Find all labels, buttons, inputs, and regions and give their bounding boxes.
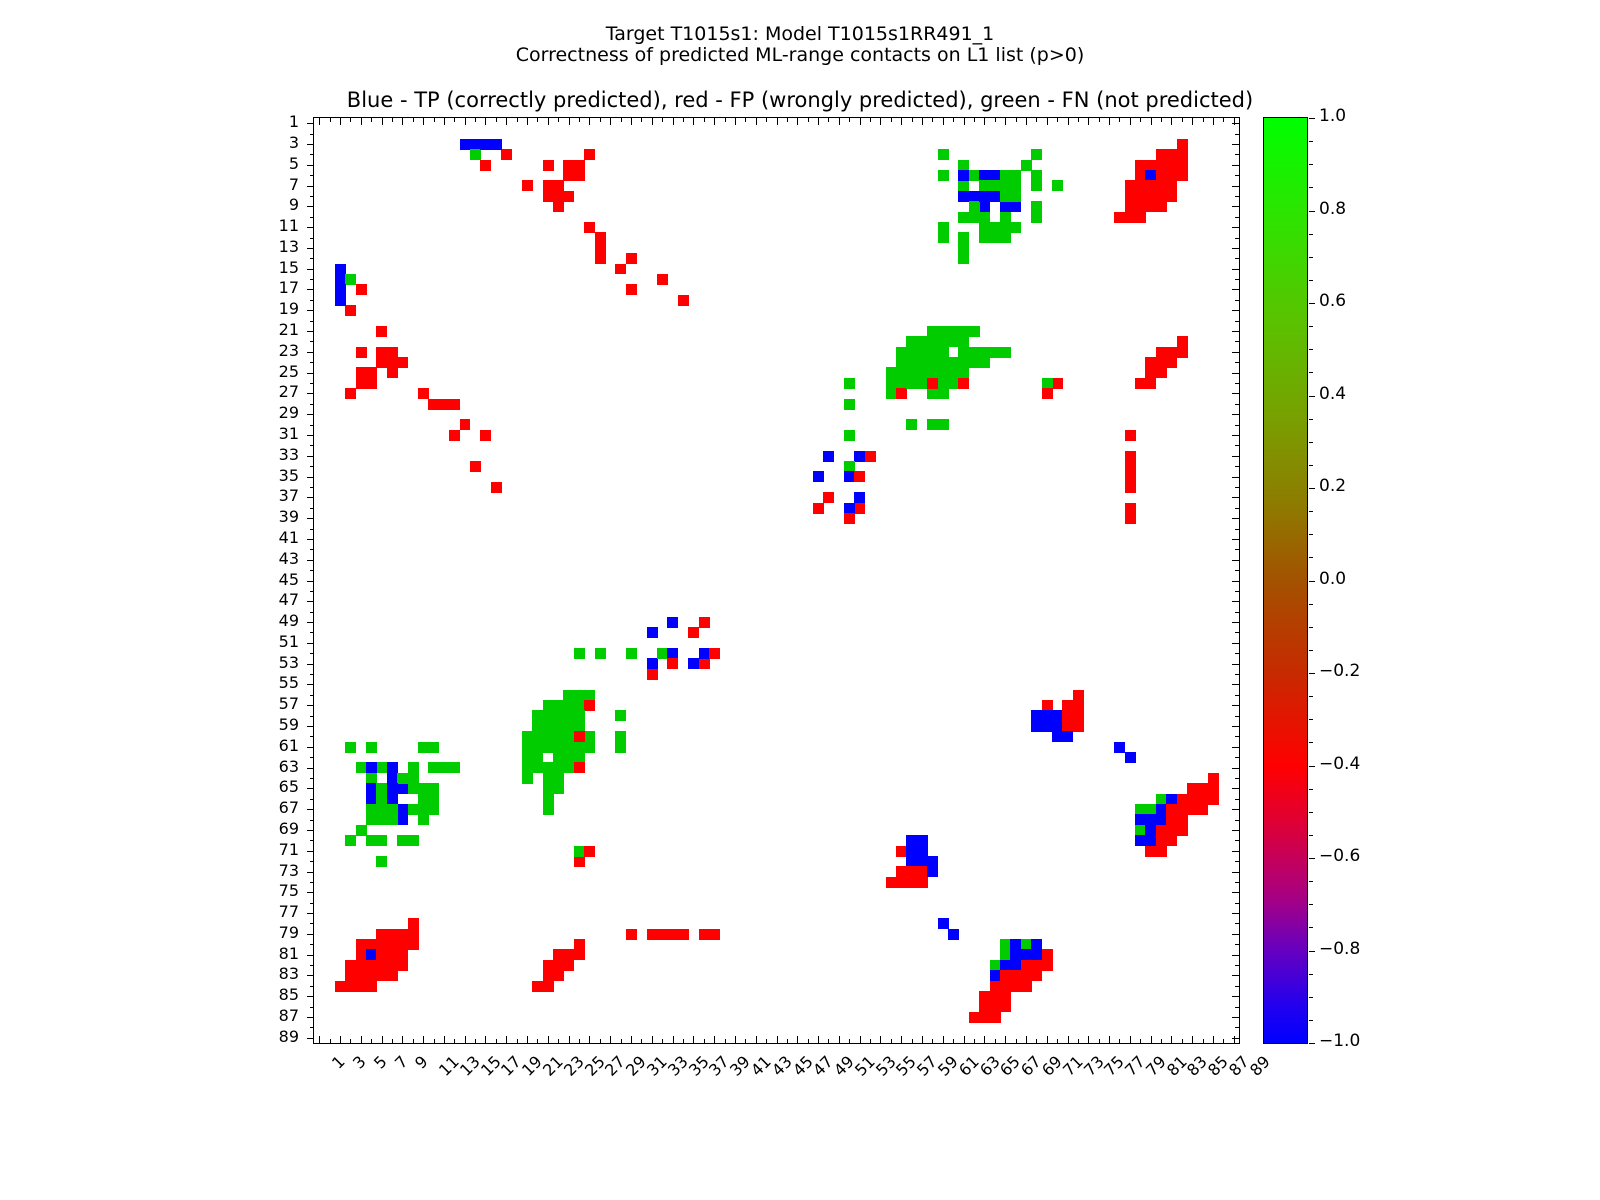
contact-cell — [366, 949, 377, 960]
x-tick-top — [506, 118, 507, 125]
x-tick — [444, 1036, 445, 1043]
x-tick-top — [1130, 118, 1131, 125]
contact-cell — [574, 939, 585, 950]
contact-cell — [574, 742, 585, 753]
x-tick-top — [402, 118, 403, 125]
y-tick — [310, 695, 314, 696]
contact-cell — [1073, 690, 1084, 701]
x-tick-top — [330, 118, 331, 122]
contact-cell — [958, 160, 969, 171]
contact-cell — [532, 752, 543, 763]
contact-cell — [366, 378, 377, 389]
x-tick-top — [870, 118, 871, 122]
contact-cell — [699, 658, 710, 669]
y-tick — [310, 549, 314, 550]
x-tick-top — [787, 118, 788, 122]
y-tick-label: 39 — [243, 507, 299, 526]
colorbar-minor-tick — [1309, 927, 1313, 928]
contact-cell — [1052, 710, 1063, 721]
contact-cell — [979, 212, 990, 223]
contact-cell — [428, 794, 439, 805]
y-tick-right — [1235, 923, 1239, 924]
colorbar-minor-tick — [1309, 719, 1313, 720]
contact-cell — [574, 710, 585, 721]
contact-cell — [958, 170, 969, 181]
contact-cell — [1197, 783, 1208, 794]
x-tick — [880, 1036, 881, 1043]
contact-cell — [387, 773, 398, 784]
contact-cell — [647, 658, 658, 669]
contact-cell — [1010, 222, 1021, 233]
y-tick — [310, 820, 314, 821]
contact-cell — [584, 149, 595, 160]
contact-cell — [1156, 160, 1167, 171]
y-tick-right — [1232, 393, 1239, 394]
y-tick-right — [1235, 799, 1239, 800]
contact-cell — [917, 856, 928, 867]
y-tick-right — [1232, 996, 1239, 997]
contact-cell — [543, 742, 554, 753]
colorbar-tick-label: 0.6 — [1319, 291, 1346, 311]
contact-cell — [470, 461, 481, 472]
contact-cell — [709, 648, 720, 659]
contact-cell — [657, 648, 668, 659]
contact-cell — [948, 357, 959, 368]
contact-cell — [979, 1001, 990, 1012]
y-tick-right — [1235, 632, 1239, 633]
contact-cell — [1145, 180, 1156, 191]
contact-cell — [813, 471, 824, 482]
y-tick-label: 79 — [243, 923, 299, 942]
contact-cell — [1031, 149, 1042, 160]
x-tick-top — [652, 118, 653, 125]
x-tick — [496, 1039, 497, 1043]
contact-cell — [1010, 201, 1021, 212]
colorbar[interactable] — [1263, 117, 1308, 1044]
colorbar-tick-label: −0.4 — [1319, 754, 1360, 774]
contact-cell — [906, 357, 917, 368]
x-tick-top — [880, 118, 881, 125]
x-tick — [797, 1036, 798, 1043]
contact-cell — [823, 451, 834, 462]
y-tick-right — [1235, 986, 1239, 987]
contact-cell — [1135, 180, 1146, 191]
contact-cell — [574, 731, 585, 742]
y-tick — [307, 934, 314, 935]
contact-cell — [1062, 721, 1073, 732]
y-tick-right — [1235, 965, 1239, 966]
contact-cell — [563, 721, 574, 732]
x-tick — [673, 1036, 674, 1043]
x-tick — [839, 1036, 840, 1043]
x-tick-top — [1099, 118, 1100, 122]
contact-cell — [969, 191, 980, 202]
y-tick — [307, 497, 314, 498]
x-tick — [548, 1036, 549, 1043]
x-tick — [631, 1036, 632, 1043]
contact-cell — [387, 970, 398, 981]
x-tick-top — [756, 118, 757, 125]
y-tick-right — [1232, 331, 1239, 332]
y-tick-right — [1235, 238, 1239, 239]
contact-cell — [1114, 742, 1125, 753]
contact-cell — [1135, 814, 1146, 825]
y-tick-right — [1232, 622, 1239, 623]
y-tick-right — [1232, 352, 1239, 353]
x-tick — [912, 1039, 913, 1043]
x-tick-top — [943, 118, 944, 125]
contact-cell — [1042, 700, 1053, 711]
contact-cell — [335, 295, 346, 306]
contact-cell — [397, 814, 408, 825]
x-tick-top — [1078, 118, 1079, 122]
contact-cell — [958, 367, 969, 378]
contact-map-plot-area[interactable] — [313, 117, 1240, 1044]
x-tick — [350, 1039, 351, 1043]
contact-cell — [418, 783, 429, 794]
x-tick-top — [641, 118, 642, 122]
y-tick — [307, 227, 314, 228]
contact-cell — [938, 419, 949, 430]
x-tick — [995, 1039, 996, 1043]
x-tick — [392, 1039, 393, 1043]
contact-cell — [896, 846, 907, 857]
contact-cell — [595, 648, 606, 659]
x-tick — [1047, 1036, 1048, 1043]
x-tick-top — [1213, 118, 1214, 125]
contact-cell — [979, 232, 990, 243]
contact-cell — [969, 212, 980, 223]
contact-cell — [1177, 336, 1188, 347]
contact-cell — [449, 762, 460, 773]
contact-cell — [1031, 721, 1042, 732]
colorbar-tick — [1309, 1043, 1315, 1044]
y-tick — [310, 487, 314, 488]
contact-cell — [387, 960, 398, 971]
contact-cell — [397, 357, 408, 368]
contact-cell — [397, 929, 408, 940]
contact-cell — [906, 835, 917, 846]
y-tick-right — [1235, 612, 1239, 613]
colorbar-minor-tick — [1309, 835, 1313, 836]
y-tick-right — [1232, 705, 1239, 706]
contact-cell — [948, 929, 959, 940]
contact-cell — [927, 856, 938, 867]
contact-cell — [1073, 710, 1084, 721]
contact-cell — [335, 274, 346, 285]
y-tick-label: 61 — [243, 736, 299, 755]
y-tick-label: 89 — [243, 1027, 299, 1046]
x-tick-top — [1161, 118, 1162, 122]
contact-cell — [335, 264, 346, 275]
x-tick-top — [797, 118, 798, 125]
colorbar-minor-tick — [1309, 465, 1313, 466]
contact-cell — [1010, 960, 1021, 971]
colorbar-minor-tick — [1309, 604, 1313, 605]
x-tick — [818, 1036, 819, 1043]
contact-cell — [948, 378, 959, 389]
contact-cell — [397, 773, 408, 784]
y-tick — [307, 289, 314, 290]
x-tick — [423, 1036, 424, 1043]
y-tick-right — [1232, 664, 1239, 665]
y-tick-right — [1235, 425, 1239, 426]
contact-cell — [345, 981, 356, 992]
contact-cell — [906, 336, 917, 347]
colorbar-minor-tick — [1309, 742, 1313, 743]
colorbar-minor-tick — [1309, 858, 1313, 859]
y-tick-right — [1232, 726, 1239, 727]
x-tick — [745, 1039, 746, 1043]
x-tick — [1016, 1039, 1017, 1043]
x-tick — [808, 1039, 809, 1043]
contact-cell — [1010, 170, 1021, 181]
y-tick-right — [1232, 581, 1239, 582]
contact-cell — [1177, 139, 1188, 150]
contact-cell — [1197, 794, 1208, 805]
y-tick — [307, 643, 314, 644]
x-tick-top — [569, 118, 570, 125]
contact-cell — [1125, 482, 1136, 493]
plot-legend-title: Blue - TP (correctly predicted), red - F… — [0, 88, 1600, 112]
contact-cell — [397, 783, 408, 794]
y-tick — [310, 425, 314, 426]
contact-cell — [844, 461, 855, 472]
contact-cell — [938, 347, 949, 358]
contact-cell — [1145, 191, 1156, 202]
contact-cell — [958, 347, 969, 358]
y-tick-right — [1235, 466, 1239, 467]
contact-cell — [1042, 960, 1053, 971]
contact-cell — [408, 762, 419, 773]
contact-cell — [844, 513, 855, 524]
x-tick-top — [465, 118, 466, 125]
y-tick — [307, 851, 314, 852]
contact-cell — [532, 762, 543, 773]
contact-cell — [990, 232, 1001, 243]
contact-cell — [397, 939, 408, 950]
contact-cell — [958, 180, 969, 191]
contact-cell — [1000, 991, 1011, 1002]
x-tick — [953, 1039, 954, 1043]
contact-cell — [865, 451, 876, 462]
contact-cell — [460, 139, 471, 150]
contact-cell — [886, 877, 897, 888]
x-tick-top — [1057, 118, 1058, 122]
x-tick — [600, 1039, 601, 1043]
contact-cell — [397, 960, 408, 971]
contact-cell — [376, 856, 387, 867]
x-tick-top — [579, 118, 580, 122]
contact-cell — [418, 794, 429, 805]
contact-cell — [969, 326, 980, 337]
contact-cell — [522, 731, 533, 742]
contact-cell — [1042, 949, 1053, 960]
x-tick — [1213, 1036, 1214, 1043]
x-tick-top — [1026, 118, 1027, 125]
x-tick-top — [745, 118, 746, 122]
contact-cell — [387, 794, 398, 805]
contact-cell — [1145, 378, 1156, 389]
contact-cell — [428, 742, 439, 753]
contact-cell — [1125, 212, 1136, 223]
contact-cell — [667, 648, 678, 659]
y-tick — [307, 705, 314, 706]
y-tick — [310, 965, 314, 966]
contact-cell — [844, 430, 855, 441]
y-tick-label: 21 — [243, 320, 299, 339]
y-tick — [307, 373, 314, 374]
y-tick — [307, 913, 314, 914]
contact-cell — [938, 918, 949, 929]
y-tick — [307, 872, 314, 873]
contact-cell — [574, 856, 585, 867]
y-tick-label: 23 — [243, 341, 299, 360]
contact-cell — [854, 451, 865, 462]
contact-cell — [1135, 201, 1146, 212]
x-tick — [330, 1039, 331, 1043]
contact-cell — [543, 762, 554, 773]
contact-cell — [927, 336, 938, 347]
contact-cell — [979, 222, 990, 233]
contact-cell — [917, 866, 928, 877]
contact-cell — [906, 347, 917, 358]
x-tick — [787, 1039, 788, 1043]
y-tick-right — [1235, 487, 1239, 488]
y-tick — [307, 747, 314, 748]
y-tick-right — [1235, 903, 1239, 904]
contact-cell — [647, 929, 658, 940]
contact-cell — [595, 253, 606, 264]
x-tick — [475, 1039, 476, 1043]
x-tick — [901, 1036, 902, 1043]
contact-cell — [563, 710, 574, 721]
y-tick-right — [1232, 955, 1239, 956]
y-tick — [310, 986, 314, 987]
y-tick — [307, 581, 314, 582]
contact-cell — [938, 326, 949, 337]
x-tick-top — [485, 118, 486, 125]
y-tick — [307, 186, 314, 187]
x-tick — [1026, 1036, 1027, 1043]
y-tick — [307, 622, 314, 623]
x-tick-top — [1036, 118, 1037, 122]
x-tick — [537, 1039, 538, 1043]
y-tick-right — [1235, 341, 1239, 342]
contact-cell — [376, 814, 387, 825]
contact-cell — [990, 222, 1001, 233]
x-tick-top — [964, 118, 965, 125]
contact-cell — [563, 170, 574, 181]
x-tick — [860, 1036, 861, 1043]
contact-cell — [969, 1012, 980, 1023]
contact-cell — [1021, 960, 1032, 971]
contact-cell — [1156, 367, 1167, 378]
y-tick — [307, 248, 314, 249]
y-tick-label: 13 — [243, 237, 299, 256]
x-tick-label: 9 — [411, 1052, 432, 1073]
contact-cell — [1010, 981, 1021, 992]
contact-cell — [345, 960, 356, 971]
contact-cell — [948, 336, 959, 347]
y-tick-label: 33 — [243, 445, 299, 464]
contact-cell — [335, 284, 346, 295]
x-tick — [1130, 1036, 1131, 1043]
y-tick-label: 47 — [243, 590, 299, 609]
x-tick-top — [1171, 118, 1172, 125]
y-tick-right — [1232, 310, 1239, 311]
x-tick-top — [901, 118, 902, 125]
y-tick — [310, 1027, 314, 1028]
contact-cell — [366, 367, 377, 378]
y-tick — [307, 1017, 314, 1018]
x-tick-top — [1182, 118, 1183, 122]
y-tick — [307, 1038, 314, 1039]
contact-cell — [532, 731, 543, 742]
contact-cell — [906, 866, 917, 877]
contact-cell — [1166, 180, 1177, 191]
x-tick-top — [548, 118, 549, 125]
contact-cell — [1031, 970, 1042, 981]
x-tick-top — [1016, 118, 1017, 122]
y-tick-label: 71 — [243, 840, 299, 859]
y-tick-label: 77 — [243, 902, 299, 921]
x-tick — [589, 1036, 590, 1043]
contact-cell — [428, 783, 439, 794]
contact-cell — [449, 430, 460, 441]
contact-cell — [1156, 814, 1167, 825]
contact-cell — [553, 731, 564, 742]
y-tick — [307, 165, 314, 166]
y-tick-right — [1232, 830, 1239, 831]
contact-cell — [615, 742, 626, 753]
contact-cell — [553, 762, 564, 773]
contact-cell — [366, 804, 377, 815]
colorbar-minor-tick — [1309, 673, 1313, 674]
x-tick-top — [839, 118, 840, 125]
colorbar-tick-label: −0.2 — [1319, 661, 1360, 681]
contact-cell — [1187, 804, 1198, 815]
contact-cell — [1021, 949, 1032, 960]
contact-cell — [1156, 846, 1167, 857]
contact-cell — [990, 347, 1001, 358]
contact-cell — [1135, 804, 1146, 815]
x-tick — [465, 1036, 466, 1043]
x-tick-top — [714, 118, 715, 125]
contact-cell — [522, 180, 533, 191]
contact-cell — [1062, 700, 1073, 711]
x-tick — [735, 1036, 736, 1043]
y-tick-label: 25 — [243, 362, 299, 381]
contact-cell — [979, 191, 990, 202]
contact-cell — [1145, 367, 1156, 378]
contact-cell — [408, 773, 419, 784]
contact-cell — [1166, 814, 1177, 825]
x-tick-label: 3 — [349, 1052, 370, 1073]
contact-cell — [1145, 835, 1156, 846]
y-tick-right — [1232, 913, 1239, 914]
y-tick-label: 19 — [243, 299, 299, 318]
y-tick-label: 75 — [243, 881, 299, 900]
contact-cell — [553, 949, 564, 960]
y-tick-label: 85 — [243, 985, 299, 1004]
x-tick — [1057, 1039, 1058, 1043]
contact-cell — [615, 710, 626, 721]
contact-cell — [990, 170, 1001, 181]
contact-cell — [938, 378, 949, 389]
contact-cell — [1197, 804, 1208, 815]
y-tick — [310, 321, 314, 322]
